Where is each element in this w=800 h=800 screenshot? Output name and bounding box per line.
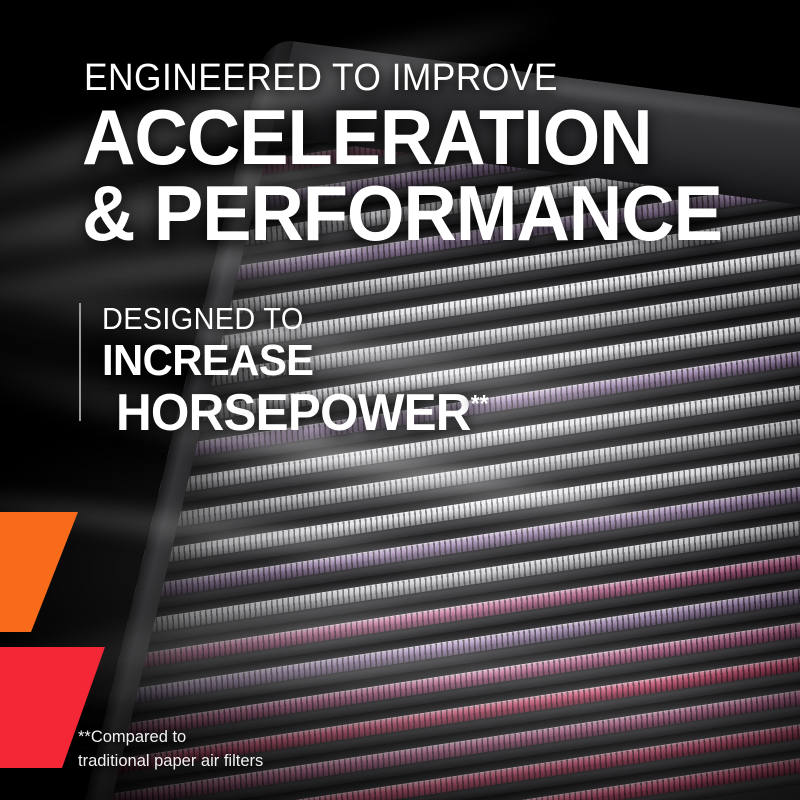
pleat-wire-mesh [162,38,800,54]
footnote-marker: ** [471,391,489,418]
headline-eyebrow: ENGINEERED TO IMPROVE [84,59,558,97]
headline-line-2: & PERFORMANCE [82,176,722,252]
orange-accent-shape [0,512,78,632]
main-headline: ACCELERATION & PERFORMANCE [82,100,722,251]
sub-headline-eyebrow: DESIGNED TO [102,303,480,334]
footnote-text: **Compared to traditional paper air filt… [78,726,263,774]
footnote-line-2: traditional paper air filters [78,750,263,774]
sub-headline-block: DESIGNED TO INCREASE HORSEPOWER** [79,303,508,421]
sub-headline-line-2-text: HORSEPOWER [116,384,471,442]
sub-headline-line-1: INCREASE [102,339,488,384]
footnote-line-1: **Compared to [78,726,263,750]
headline-line-1: ACCELERATION [82,100,722,176]
product-banner: ENGINEERED TO IMPROVE ACCELERATION & PER… [0,0,800,800]
sub-headline-line-2: HORSEPOWER** [116,387,488,439]
